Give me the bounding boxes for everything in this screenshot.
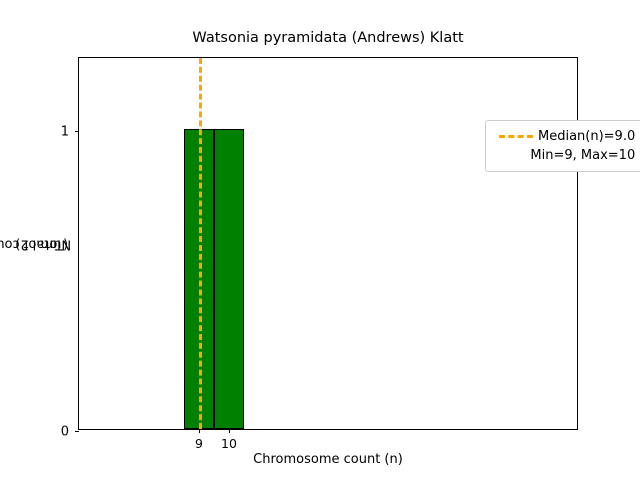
chart-title: Watsonia pyramidata (Andrews) Klatt [78,30,578,46]
chart-figure: Watsonia pyramidata (Andrews) Klatt Num … [0,0,640,480]
x-tick-mark-9 [199,429,200,433]
x-tick-mark-10 [229,429,230,433]
y-tick-label-1: 1 [61,125,69,140]
legend-entry-minmax: Min=9, Max=10 [494,146,635,165]
chart-legend: Median(n)=9.0 Min=9, Max=10 [485,120,640,172]
legend-label-minmax: Min=9, Max=10 [530,148,635,163]
x-tick-label-9: 9 [195,436,203,451]
legend-entry-median: Median(n)=9.0 [494,127,635,146]
y-axis-label-line2: (Total 2) [0,235,88,253]
legend-dashed-line-icon [494,135,538,138]
legend-label-median: Median(n)=9.0 [538,129,635,144]
plot-area: 0 1 9 10 Median(n)=9.0 Min=9, Max=10 [78,57,578,430]
median-line [199,58,202,429]
bar-10 [214,129,244,429]
x-tick-label-10: 10 [221,436,237,451]
y-axis-label: Num of counts (Total 2) [18,57,46,430]
plot-inner [79,58,577,429]
y-tick-label-0: 0 [61,425,69,440]
x-axis-label: Chromosome count (n) [78,452,578,467]
y-tick-mark-1: 1 [75,131,79,132]
y-tick-mark-0: 0 [75,431,79,432]
